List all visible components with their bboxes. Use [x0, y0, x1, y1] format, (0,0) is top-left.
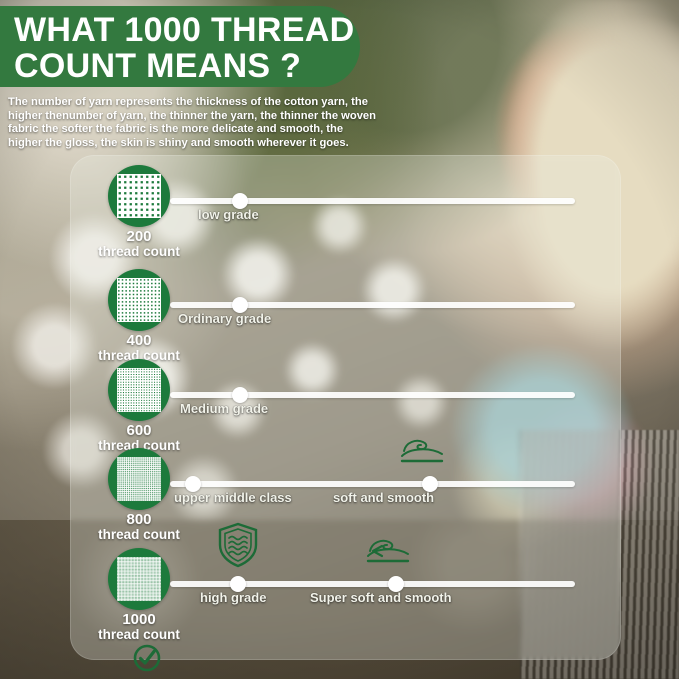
folded-fabric-arrow-icon — [362, 537, 414, 571]
shield-waves-icon — [216, 521, 260, 569]
page-title: WHAT 1000 THREAD COUNT MEANS ? — [14, 12, 374, 84]
grade-track-400 — [170, 302, 575, 308]
thread-grid-disc-800 — [108, 448, 170, 510]
grade-track-800 — [170, 481, 575, 487]
page-title-line1: WHAT 1000 THREAD — [14, 11, 354, 49]
grade-track-200 — [170, 198, 575, 204]
grid-pattern-icon — [117, 368, 161, 412]
thread-count-label-800: 800thread count — [79, 512, 199, 542]
softness-label-1000: Super soft and smooth — [310, 590, 452, 605]
thread-grid-disc-600 — [108, 359, 170, 421]
thread-count-caption: thread count — [79, 527, 199, 542]
grade-label-600: Medium grade — [180, 401, 268, 416]
thread-count-caption: thread count — [79, 244, 199, 259]
check-circle-icon — [132, 643, 162, 678]
thread-count-label-1000: 1000thread count — [79, 612, 199, 642]
grade-label-400: Ordinary grade — [178, 311, 271, 326]
grid-pattern-icon — [117, 457, 161, 501]
thread-count-caption: thread count — [79, 627, 199, 642]
infographic-canvas: WHAT 1000 THREAD COUNT MEANS ? The numbe… — [0, 0, 679, 679]
page-title-line2: COUNT MEANS ? — [14, 48, 374, 84]
grade-label-1000: high grade — [200, 590, 266, 605]
grade-track-600 — [170, 392, 575, 398]
folded-fabric-icon — [396, 437, 448, 471]
grid-pattern-icon — [117, 278, 161, 322]
grid-pattern-icon — [117, 557, 161, 601]
thread-count-number: 600 — [79, 423, 199, 438]
grade-label-800: upper middle class — [174, 490, 292, 505]
thread-grid-disc-1000 — [108, 548, 170, 610]
grade-label-200: low grade — [198, 207, 259, 222]
grid-pattern-icon — [117, 174, 161, 218]
thread-grid-disc-400 — [108, 269, 170, 331]
thread-count-number: 800 — [79, 512, 199, 527]
thread-count-number: 200 — [79, 229, 199, 244]
softness-label-800: soft and smooth — [333, 490, 434, 505]
thread-count-label-200: 200thread count — [79, 229, 199, 259]
thread-count-number: 1000 — [79, 612, 199, 627]
thread-count-number: 400 — [79, 333, 199, 348]
intro-paragraph: The number of yarn represents the thickn… — [8, 96, 380, 150]
thread-grid-disc-200 — [108, 165, 170, 227]
